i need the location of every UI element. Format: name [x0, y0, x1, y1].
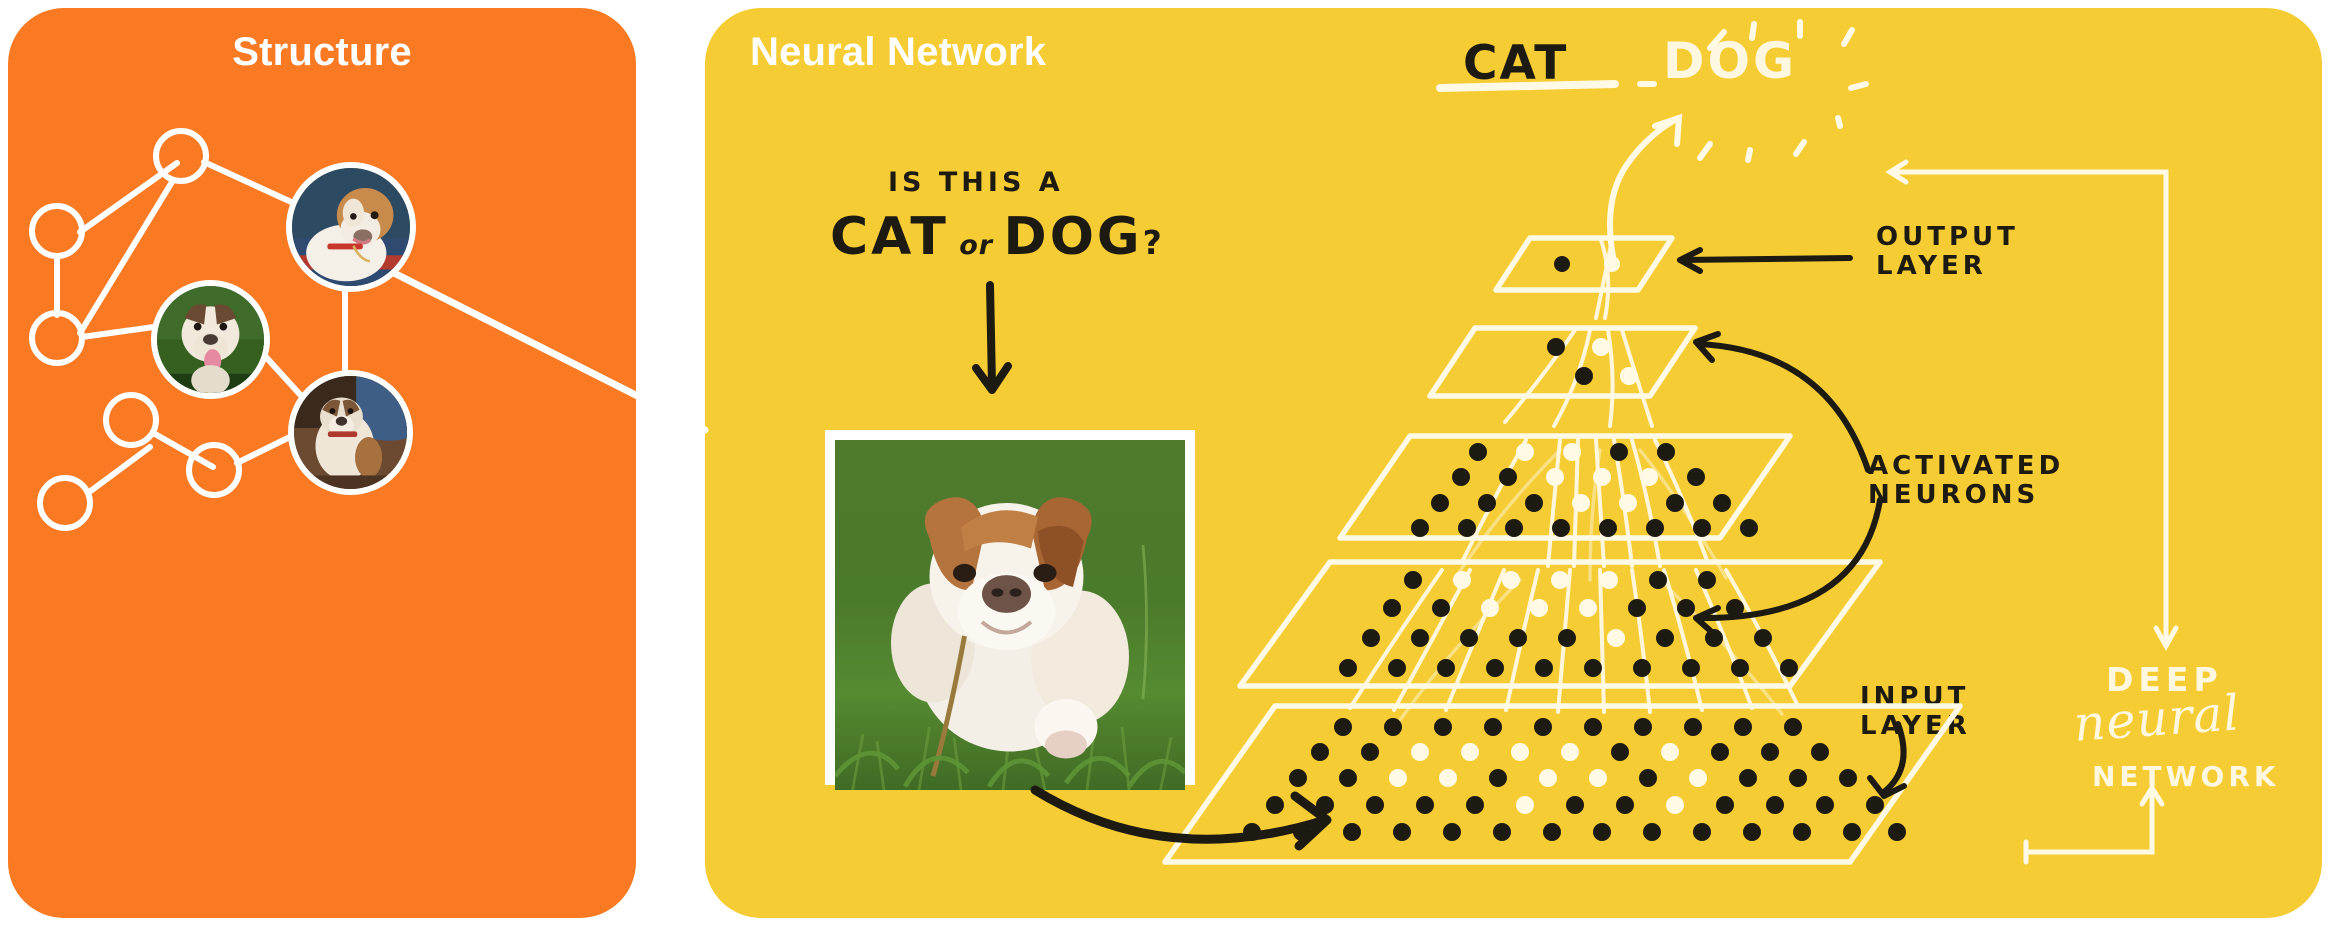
question-cat-word: CAT: [830, 207, 949, 267]
puppy-photo-image: [835, 440, 1185, 790]
structure-photo-node-bulldog-sitting[interactable]: [288, 370, 413, 495]
input-image-puppy-photo[interactable]: [825, 430, 1195, 785]
infographic-canvas: Structure Neural Network: [0, 0, 2330, 936]
question-mark: ?: [1143, 223, 1165, 262]
bulldog-sitting-photo: [294, 376, 407, 489]
question-dog-word: DOG: [1004, 207, 1143, 267]
question-or-word: or: [959, 230, 993, 261]
structure-photo-node-bulldog-lying[interactable]: [286, 162, 416, 292]
label-input-layer: INPUT LAYER: [1860, 683, 1971, 741]
verdict-dog-chosen: DOG: [1663, 33, 1797, 89]
verdict-cat-rejected: CAT: [1463, 38, 1568, 91]
label-activated-neurons: ACTIVATED NEURONS: [1868, 452, 2064, 510]
structure-panel-title: Structure: [8, 30, 636, 75]
question-line-2: CAT or DOG?: [818, 208, 1165, 266]
bulldog-lying-photo: [292, 168, 410, 286]
structure-photo-node-bulldog-tongue[interactable]: [151, 280, 270, 399]
caption-network: NETWORK: [2092, 761, 2280, 792]
caption-neural: neural: [2072, 686, 2242, 752]
question-line-1: IS THIS A: [888, 168, 1064, 198]
neural-network-panel-title: Neural Network: [750, 30, 1046, 75]
label-output-layer: OUTPUT LAYER: [1876, 223, 2019, 281]
bulldog-tongue-photo: [157, 286, 264, 393]
